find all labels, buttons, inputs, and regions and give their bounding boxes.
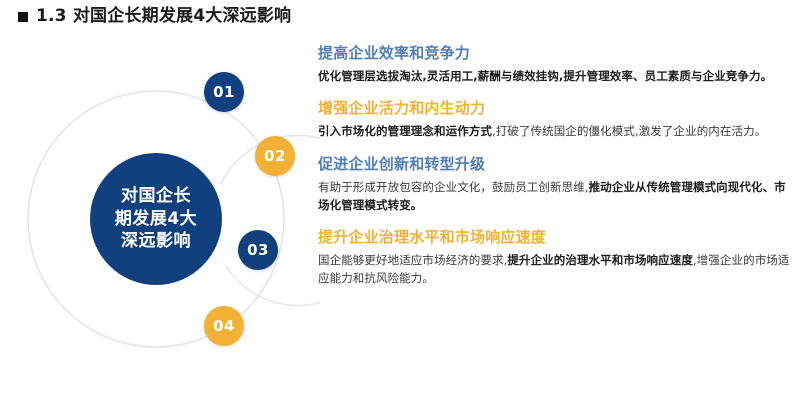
content-block-4-body: 国企能够更好地适应市场经济的要求,提升企业的治理水平和市场响应速度,增强企业的市… (318, 251, 792, 288)
content-block-3: 促进企业创新和转型升级 有助于形成开放包容的企业文化，鼓励员工创新思维,推动企业… (318, 155, 792, 215)
center-core-circle (90, 153, 222, 285)
step-badge-02[interactable]: 02 (255, 136, 295, 176)
content-column: 提高企业效率和竞争力 优化管理层选拔淘汰,灵活用工,薪酬与绩效挂钩,提升管理效率… (318, 44, 792, 288)
content-block-1: 提高企业效率和竞争力 优化管理层选拔淘汰,灵活用工,薪酬与绩效挂钩,提升管理效率… (318, 44, 792, 85)
content-block-3-body-normal: 有助于形成开放包容的企业文化，鼓励员工创新思维, (318, 180, 589, 194)
step-badge-01[interactable]: 01 (204, 72, 244, 112)
content-block-3-heading: 促进企业创新和转型升级 (318, 155, 792, 174)
content-block-3-body: 有助于形成开放包容的企业文化，鼓励员工创新思维,推动企业从传统管理模式向现代化、… (318, 178, 792, 215)
content-block-4-heading: 提升企业治理水平和市场响应速度 (318, 228, 792, 247)
content-block-4-body-bold: 提升企业的治理水平和市场响应速度 (507, 253, 693, 267)
circular-diagram: 对国企长 期发展4大 深远影响 01 02 03 04 (20, 48, 320, 388)
content-block-2-body-bold: 引入市场化的管理理念和运作方式 (318, 124, 492, 138)
content-block-1-body: 优化管理层选拔淘汰,灵活用工,薪酬与绩效挂钩,提升管理效率、员工素质与企业竞争力… (318, 67, 792, 86)
content-block-2-body: 引入市场化的管理理念和运作方式,打破了传统国企的僵化模式,激发了企业的内在活力。 (318, 122, 792, 141)
step-badge-03[interactable]: 03 (238, 230, 278, 270)
content-block-1-body-bold: 优化管理层选拔淘汰,灵活用工,薪酬与绩效挂钩,提升管理效率、员工素质与企业竞争力… (318, 69, 772, 83)
content-block-2-heading: 增强企业活力和内生动力 (318, 99, 792, 118)
content-block-4: 提升企业治理水平和市场响应速度 国企能够更好地适应市场经济的要求,提升企业的治理… (318, 228, 792, 288)
content-block-2: 增强企业活力和内生动力 引入市场化的管理理念和运作方式,打破了传统国企的僵化模式… (318, 99, 792, 140)
content-block-4-body-normal-1: 国企能够更好地适应市场经济的要求, (318, 253, 507, 267)
page-title-text: 1.3 对国企长期发展4大深远影响 (36, 8, 291, 25)
page-title: 1.3 对国企长期发展4大深远影响 (18, 8, 291, 25)
content-block-1-heading: 提高企业效率和竞争力 (318, 44, 792, 63)
step-badge-04[interactable]: 04 (204, 306, 244, 346)
diagram-rings (20, 48, 320, 388)
square-bullet-icon (18, 12, 28, 22)
content-block-2-body-normal: ,打破了传统国企的僵化模式,激发了企业的内在活力。 (492, 124, 766, 138)
